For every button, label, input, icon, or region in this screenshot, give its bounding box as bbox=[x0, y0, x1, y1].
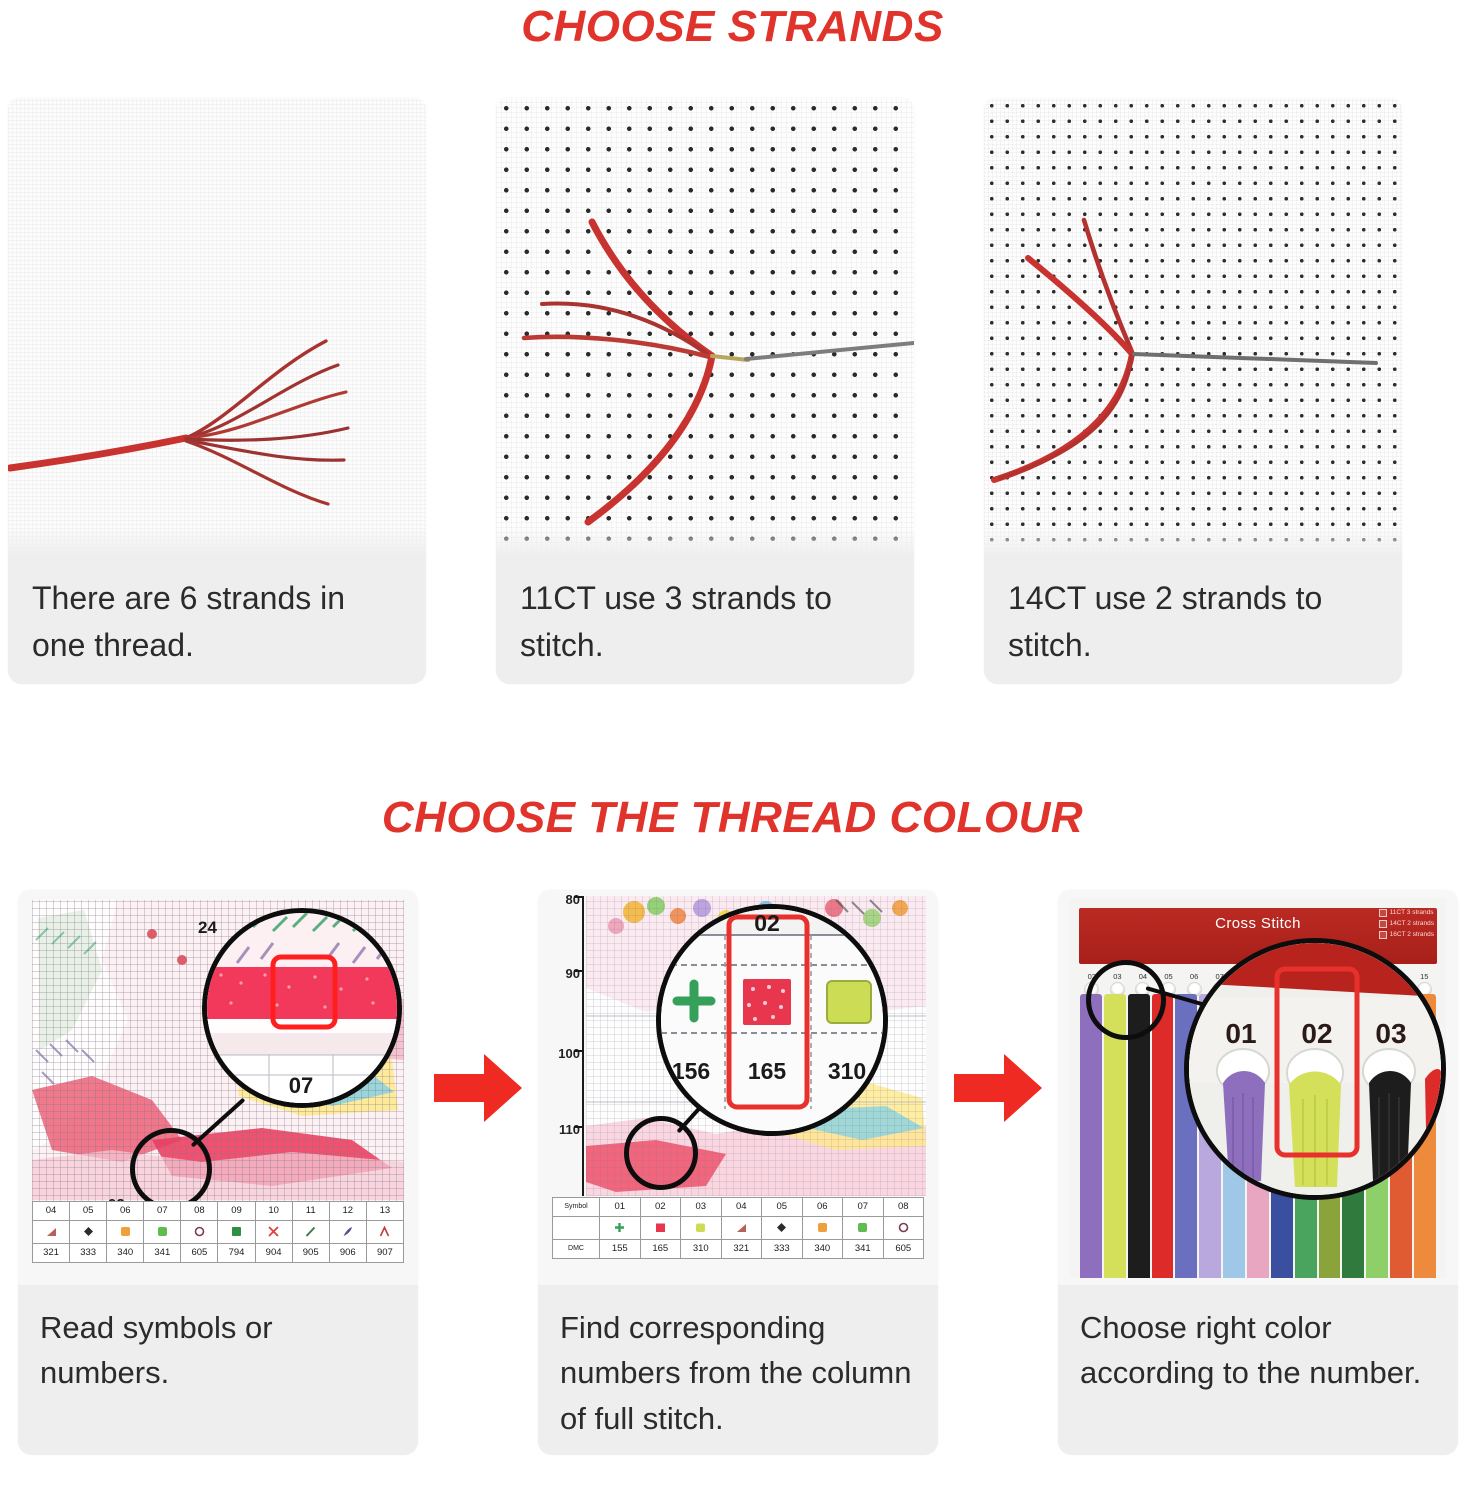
caption-14ct: 14CT use 2 strands to stitch. bbox=[984, 553, 1402, 684]
photo-fade bbox=[8, 527, 426, 553]
checkbox-icon[interactable] bbox=[1379, 920, 1387, 928]
legend-symbol-slash-green bbox=[292, 1221, 329, 1244]
card-11ct: 11CT use 3 strands to stitch. bbox=[496, 98, 914, 684]
legend-num: 10 bbox=[255, 1202, 292, 1221]
legend-num: 08 bbox=[883, 1198, 924, 1217]
legend-num: 09 bbox=[218, 1202, 255, 1221]
colour-card-row: 24 02 bbox=[18, 890, 1458, 1455]
photo-six-strands bbox=[8, 98, 426, 553]
axis-tick bbox=[574, 1050, 584, 1052]
svg-text:02: 02 bbox=[1301, 1018, 1332, 1049]
arrow-right-icon bbox=[432, 1050, 524, 1126]
thread-skein bbox=[1152, 994, 1174, 1278]
svg-text:02: 02 bbox=[754, 910, 780, 936]
legend-num: 06 bbox=[107, 1202, 144, 1221]
legend-num: 05 bbox=[70, 1202, 107, 1221]
legend-code: 341 bbox=[843, 1240, 884, 1259]
svg-text:165: 165 bbox=[748, 1058, 787, 1084]
caption-six-strands: There are 6 strands in one thread. bbox=[8, 553, 426, 684]
legend-code: 907 bbox=[366, 1244, 403, 1263]
caption-11ct: 11CT use 3 strands to stitch. bbox=[496, 553, 914, 684]
legend-symbol-circle-outline bbox=[883, 1217, 924, 1240]
legend-code: 905 bbox=[292, 1244, 329, 1263]
legend-row-head-symbol: Symbol bbox=[553, 1198, 600, 1217]
legend-symbol-circle-outline bbox=[181, 1221, 218, 1244]
legend-code-row: 321 333 340 341 605 794 904 905 906 907 bbox=[33, 1244, 404, 1263]
axis-label-110: 110 bbox=[559, 1122, 580, 1137]
legend-number-row: Symbol 01 02 03 04 05 06 07 08 bbox=[553, 1198, 924, 1217]
svg-text:310: 310 bbox=[828, 1058, 866, 1084]
checkbox-icon[interactable] bbox=[1379, 931, 1387, 939]
legend-num: 04 bbox=[721, 1198, 762, 1217]
legend-code: 341 bbox=[144, 1244, 181, 1263]
thread-six-strands-illustration bbox=[8, 98, 426, 553]
legend-num: 06 bbox=[802, 1198, 843, 1217]
axis-label-90: 90 bbox=[566, 966, 580, 981]
chart-label-24: 24 bbox=[198, 918, 217, 938]
check-label: 16CT 2 strands bbox=[1390, 929, 1434, 940]
arrow-2-wrap bbox=[938, 890, 1058, 1455]
legend-code: 340 bbox=[107, 1244, 144, 1263]
legend-symbol-square-darkgreen bbox=[218, 1221, 255, 1244]
page-title-choose-thread-colour: CHOOSE THE THREAD COLOUR bbox=[0, 793, 1465, 843]
card-14ct: 14CT use 2 strands to stitch. bbox=[984, 98, 1402, 684]
check-label: 14CT 2 strands bbox=[1390, 918, 1434, 929]
legend-code: 333 bbox=[762, 1240, 803, 1259]
photo-11ct bbox=[496, 98, 914, 553]
legend-symbol-row bbox=[553, 1217, 924, 1240]
symbol-legend-table: Symbol 01 02 03 04 05 06 07 08 bbox=[552, 1197, 924, 1259]
photo-chart-with-axis: 80 90 100 110 bbox=[538, 890, 938, 1285]
legend-symbol-square-green bbox=[144, 1221, 181, 1244]
card-choose-colour: Cross Stitch 11CT 3 strands 14CT 2 stran… bbox=[1058, 890, 1458, 1455]
legend-code: 321 bbox=[33, 1244, 70, 1263]
legend-row-head-dmc: DMC bbox=[553, 1240, 600, 1259]
legend-symbol-chevron-red bbox=[366, 1221, 403, 1244]
thread-skein bbox=[1080, 994, 1102, 1278]
arrow-1-wrap bbox=[418, 890, 538, 1455]
legend-code: 165 bbox=[640, 1240, 681, 1259]
magnifier-detail: 01 02 03 156 165 310 bbox=[656, 904, 888, 1136]
chart-y-axis-labels: 80 90 100 110 bbox=[542, 896, 584, 1196]
legend-symbol-triangle-brown bbox=[33, 1221, 70, 1244]
magnifier-detail: 01 02 03 bbox=[1184, 938, 1446, 1200]
svg-text:07: 07 bbox=[289, 1073, 313, 1098]
legend-num: 11 bbox=[292, 1202, 329, 1221]
legend-symbol-diamond-black bbox=[70, 1221, 107, 1244]
card-six-strands: There are 6 strands in one thread. bbox=[8, 98, 426, 684]
legend-num: 02 bbox=[640, 1198, 681, 1217]
check-item: 16CT 2 strands bbox=[1379, 929, 1434, 940]
legend-symbol-square-green bbox=[843, 1217, 884, 1240]
legend-symbol-leaf-purple bbox=[329, 1221, 366, 1244]
legend-code: 794 bbox=[218, 1244, 255, 1263]
card-read-symbols: 24 02 bbox=[18, 890, 418, 1455]
legend-code: 310 bbox=[681, 1240, 722, 1259]
legend-symbol-square-yellowgreen bbox=[681, 1217, 722, 1240]
photo-pattern-chart: 24 02 bbox=[18, 890, 418, 1285]
strand-card-row: There are 6 strands in one thread. bbox=[8, 98, 1458, 684]
legend-num: 07 bbox=[843, 1198, 884, 1217]
legend-row-head-symbol-2 bbox=[553, 1217, 600, 1240]
legend-num: 13 bbox=[366, 1202, 403, 1221]
legend-num: 08 bbox=[181, 1202, 218, 1221]
legend-code: 906 bbox=[329, 1244, 366, 1263]
card-find-numbers: 80 90 100 110 bbox=[538, 890, 938, 1455]
photo-fade bbox=[984, 527, 1402, 553]
page-title-choose-strands: CHOOSE STRANDS bbox=[0, 2, 1465, 52]
magnifier-source-circle bbox=[624, 1116, 698, 1190]
legend-symbol-triangle-brown bbox=[721, 1217, 762, 1240]
arrow-right-icon bbox=[952, 1050, 1044, 1126]
caption-find-numbers: Find corresponding numbers from the colu… bbox=[538, 1285, 938, 1455]
axis-tick bbox=[574, 970, 584, 972]
legend-symbol-cross-green bbox=[600, 1217, 641, 1240]
legend-num: 12 bbox=[329, 1202, 366, 1221]
legend-symbol-square-orange bbox=[802, 1217, 843, 1240]
thread-card-check-list: 11CT 3 strands 14CT 2 strands 16CT 2 str… bbox=[1379, 907, 1434, 940]
caption-read-symbols: Read symbols or numbers. bbox=[18, 1285, 418, 1455]
legend-code: 321 bbox=[721, 1240, 762, 1259]
symbol-legend-table: 04 05 06 07 08 09 10 11 12 13 bbox=[32, 1201, 404, 1263]
legend-symbol-square-orange bbox=[107, 1221, 144, 1244]
infographic-sheet: CHOOSE STRANDS bbox=[0, 0, 1465, 1500]
thread-11ct-illustration bbox=[496, 98, 914, 553]
legend-code: 605 bbox=[883, 1240, 924, 1259]
legend-code: 333 bbox=[70, 1244, 107, 1263]
svg-text:03: 03 bbox=[1375, 1018, 1406, 1049]
svg-text:01: 01 bbox=[1225, 1018, 1256, 1049]
caption-choose-colour: Choose right color according to the numb… bbox=[1058, 1285, 1458, 1455]
check-item: 14CT 2 strands bbox=[1379, 918, 1434, 929]
legend-code: 605 bbox=[181, 1244, 218, 1263]
magnifier-source-circle bbox=[1086, 960, 1166, 1040]
legend-code: 340 bbox=[802, 1240, 843, 1259]
thread-14ct-illustration bbox=[984, 98, 1402, 553]
legend-number-row: 04 05 06 07 08 09 10 11 12 13 bbox=[33, 1202, 404, 1221]
legend-num: 05 bbox=[762, 1198, 803, 1217]
legend-num: 03 bbox=[681, 1198, 722, 1217]
check-label: 11CT 3 strands bbox=[1390, 907, 1434, 918]
photo-fade bbox=[496, 527, 914, 553]
needle-shaft bbox=[1134, 354, 1376, 363]
legend-num: 07 bbox=[144, 1202, 181, 1221]
check-item: 11CT 3 strands bbox=[1379, 907, 1434, 918]
axis-tick bbox=[574, 1126, 584, 1128]
axis-label-80: 80 bbox=[566, 892, 580, 907]
checkbox-icon[interactable] bbox=[1379, 909, 1387, 917]
legend-symbol-row bbox=[33, 1221, 404, 1244]
svg-text:156: 156 bbox=[672, 1058, 710, 1084]
needle-shaft bbox=[746, 343, 914, 359]
magnifier-detail: 07 bbox=[202, 908, 402, 1108]
legend-num: 01 bbox=[600, 1198, 641, 1217]
legend-symbol-square-red bbox=[640, 1217, 681, 1240]
legend-code: 904 bbox=[255, 1244, 292, 1263]
photo-thread-card: Cross Stitch 11CT 3 strands 14CT 2 stran… bbox=[1058, 890, 1458, 1285]
axis-tick bbox=[574, 896, 584, 898]
legend-symbol-cross-red bbox=[255, 1221, 292, 1244]
legend-num: 04 bbox=[33, 1202, 70, 1221]
axis-label-100: 100 bbox=[558, 1046, 580, 1061]
legend-code-row: DMC 155 165 310 321 333 340 341 605 bbox=[553, 1240, 924, 1259]
legend-symbol-diamond-black bbox=[762, 1217, 803, 1240]
legend-code: 155 bbox=[600, 1240, 641, 1259]
photo-14ct bbox=[984, 98, 1402, 553]
